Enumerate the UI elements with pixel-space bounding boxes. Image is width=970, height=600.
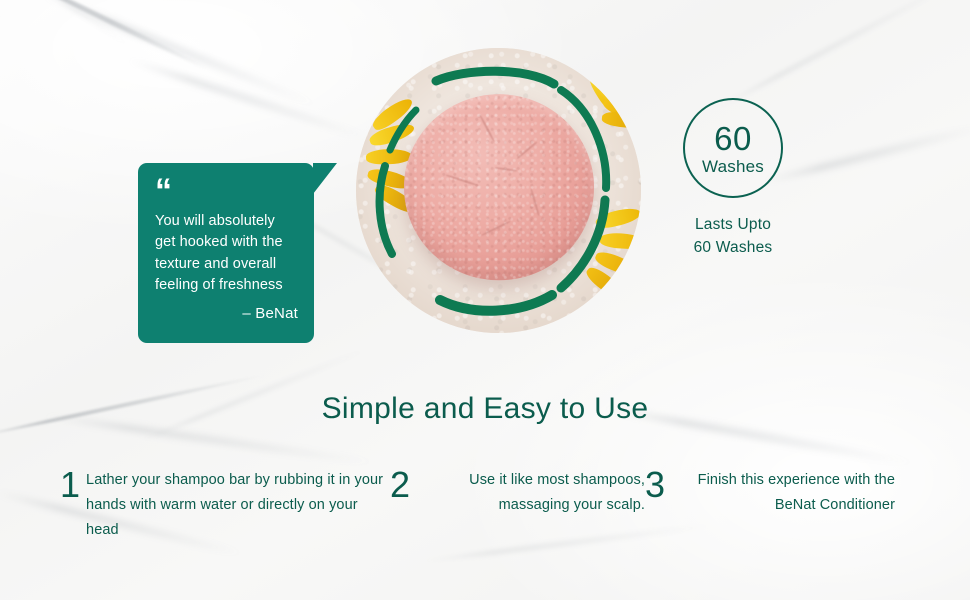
quote-tail: [313, 163, 337, 194]
quote-mark-icon: “: [155, 179, 298, 203]
quote-text: You will absolutely get hooked with the …: [155, 211, 298, 296]
washes-badge: 60 Washes Lasts Upto 60 Washes: [655, 98, 811, 260]
washes-caption-line1: Lasts Upto: [655, 213, 811, 236]
step-text: Lather your shampoo bar by rubbing it in…: [86, 468, 390, 543]
washes-unit-label: Washes: [702, 158, 764, 175]
shampoo-bar: [404, 94, 594, 280]
step-text: Use it like most shampoos, massaging you…: [416, 468, 645, 518]
step-item: 2 Use it like most shampoos, massaging y…: [390, 468, 645, 543]
washes-caption: Lasts Upto 60 Washes: [655, 213, 811, 260]
step-number: 3: [645, 468, 665, 501]
washes-badge-circle: 60 Washes: [683, 98, 783, 198]
marketing-banner: “ You will absolutely get hooked with th…: [0, 0, 970, 600]
section-headline: Simple and Easy to Use: [0, 392, 970, 426]
step-item: 1 Lather your shampoo bar by rubbing it …: [60, 468, 390, 543]
product-photo: [356, 48, 641, 333]
washes-caption-line2: 60 Washes: [655, 236, 811, 259]
washes-count: 60: [714, 122, 752, 155]
step-item: 3 Finish this experience with the BeNat …: [645, 468, 895, 543]
quote-callout: “ You will absolutely get hooked with th…: [138, 163, 314, 343]
steps-list: 1 Lather your shampoo bar by rubbing it …: [60, 468, 920, 543]
step-number: 2: [390, 468, 410, 501]
step-text: Finish this experience with the BeNat Co…: [671, 468, 895, 518]
quote-attribution: – BeNat: [155, 305, 298, 322]
step-number: 1: [60, 468, 80, 501]
shampoo-bar-texture: [404, 94, 594, 280]
